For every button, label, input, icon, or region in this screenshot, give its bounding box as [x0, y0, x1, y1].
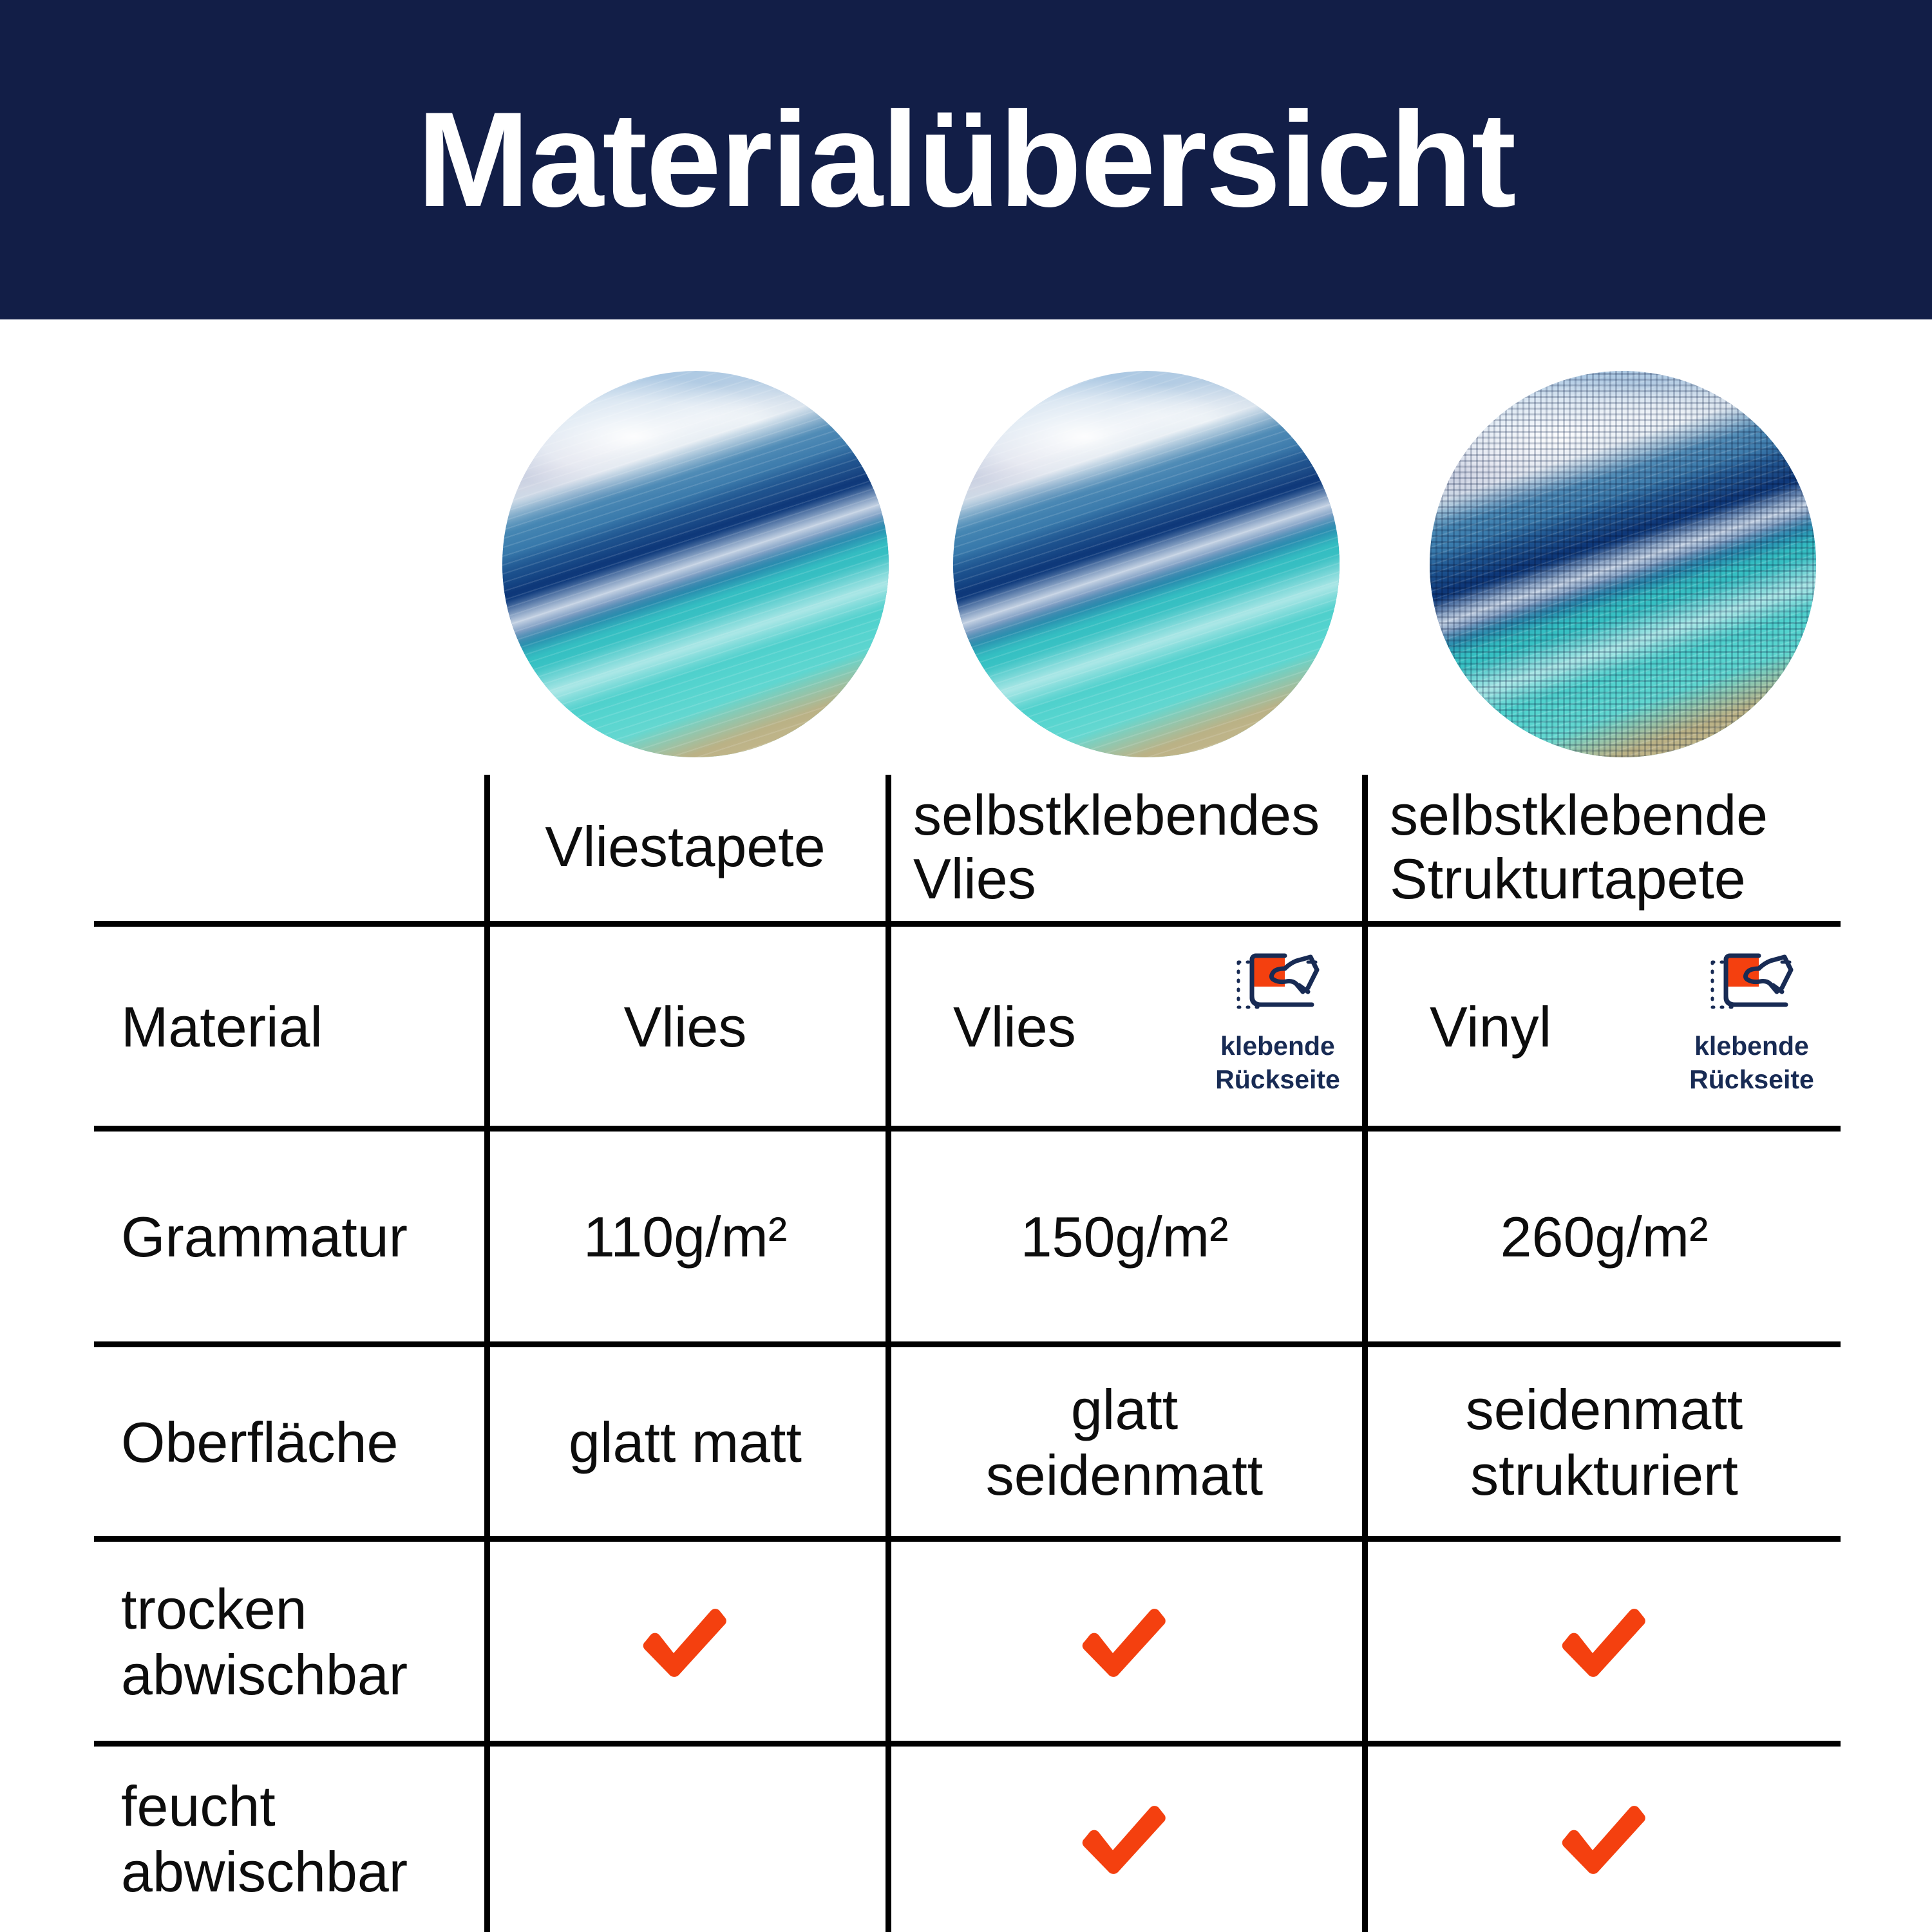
adhesive-backing-icon [1229, 945, 1326, 1028]
adhesive-backing-icon [1703, 945, 1800, 1028]
adhesive-back-badge-line1: klebende [1220, 1032, 1335, 1061]
cell-oberflaeche-selbstklebendes-vlies: glatt seidenmatt [963, 1347, 1285, 1538]
row-label-feucht-abwischbar: feucht abwischbar [94, 1747, 455, 1932]
row-label-grammatur: Grammatur [94, 1130, 484, 1344]
row-label-trocken-abwischbar: trocken abwischbar [94, 1542, 455, 1743]
adhesive-back-badge-column-3: klebende Rückseite [1687, 945, 1816, 1095]
adhesive-back-badge-column-2: klebende Rückseite [1213, 945, 1342, 1095]
cell-grammatur-vliestapete: 110g/m² [490, 1130, 880, 1344]
cell-trocken-abwischbar-selbstklebende-strukturtapete [1368, 1542, 1841, 1743]
cell-material-vliestapete: Vlies [490, 927, 880, 1127]
table-column-divider-3 [1362, 775, 1368, 1932]
checkmark-icon [1553, 1604, 1656, 1680]
cell-grammatur-selbstklebendes-vlies: 150g/m² [891, 1130, 1358, 1344]
row-label-oberflaeche: Oberfläche [94, 1347, 484, 1538]
cell-oberflaeche-vliestapete: glatt matt [490, 1347, 880, 1538]
cell-feucht-abwischbar-vliestapete [490, 1747, 880, 1932]
column-header-selbstklebendes-vlies: selbstklebendes Vlies [891, 778, 1358, 916]
cell-grammatur-selbstklebende-strukturtapete: 260g/m² [1368, 1130, 1841, 1344]
adhesive-back-badge-line2: Rückseite [1689, 1065, 1814, 1095]
material-comparison-table: Vliestapete selbstklebendes Vlies selbst… [0, 0, 1932, 1932]
cell-feucht-abwischbar-selbstklebende-strukturtapete [1368, 1747, 1841, 1932]
checkmark-icon [1553, 1801, 1656, 1877]
adhesive-back-badge-line2: Rückseite [1215, 1065, 1340, 1095]
table-column-divider-1 [484, 775, 490, 1932]
cell-trocken-abwischbar-selbstklebendes-vlies [891, 1542, 1358, 1743]
column-header-selbstklebende-strukturtapete: selbstklebende Strukturtapete [1368, 778, 1841, 916]
cell-feucht-abwischbar-selbstklebendes-vlies [891, 1747, 1358, 1932]
checkmark-icon [1073, 1801, 1176, 1877]
row-label-material: Material [94, 927, 484, 1127]
checkmark-icon [1073, 1604, 1176, 1680]
column-header-vliestapete: Vliestapete [490, 778, 880, 916]
cell-trocken-abwischbar-vliestapete [490, 1542, 880, 1743]
table-column-divider-2 [885, 775, 891, 1932]
cell-oberflaeche-selbstklebende-strukturtapete: seidenmatt strukturiert [1424, 1347, 1785, 1538]
adhesive-back-badge-line1: klebende [1694, 1032, 1809, 1061]
table-row-divider-header [94, 921, 1841, 927]
checkmark-icon [634, 1604, 737, 1680]
